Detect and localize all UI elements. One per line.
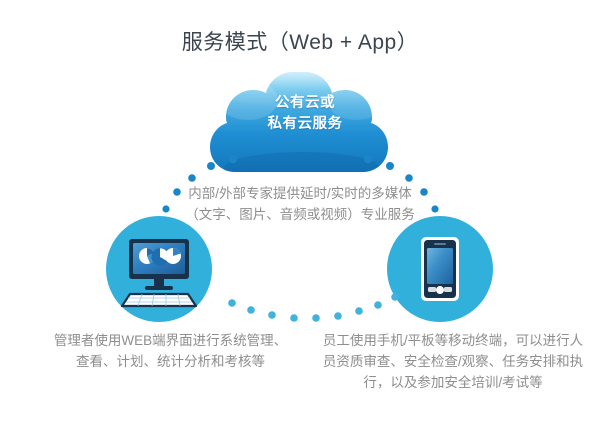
desktop-caption: 管理者使用WEB端界面进行系统管理、查看、计划、统计分析和考核等 <box>48 330 293 372</box>
screen-pie-charts <box>139 248 181 266</box>
diagram-canvas: 服务模式（Web + App） <box>0 0 600 445</box>
dotted-arc-desktop-to-phone <box>228 293 399 322</box>
phone-caption: 员工使用手机/平板等移动终端，可以进行人员资质审查、安全检查/观察、任务安排和执… <box>322 330 584 393</box>
cloud-label-line2: 私有云服务 <box>240 114 370 135</box>
desktop-node <box>106 216 212 322</box>
center-description: 内部/外部专家提供延时/实时的多媒体（文字、图片、音频或视频）专业服务 <box>185 183 415 225</box>
cloud-label-line1: 公有云或 <box>240 93 370 114</box>
phone-node <box>387 216 493 322</box>
cloud-label: 公有云或 私有云服务 <box>240 93 370 135</box>
